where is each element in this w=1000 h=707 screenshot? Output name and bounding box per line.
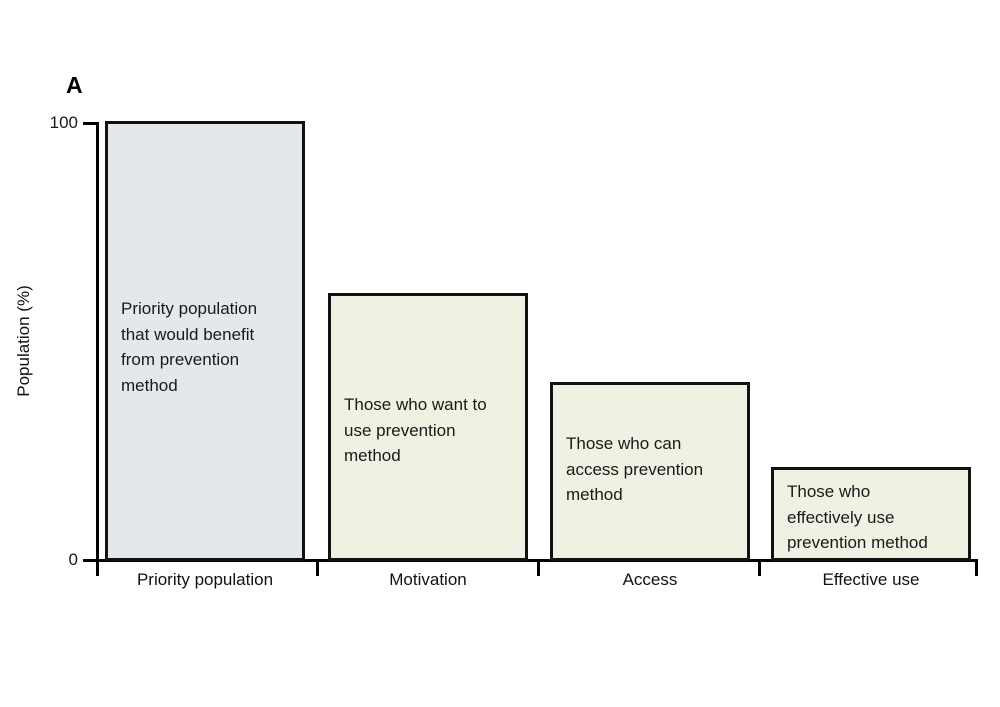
x-tick-mark-4 (975, 562, 978, 576)
y-tick-mark-100 (83, 122, 96, 125)
x-tick-mark-0 (96, 562, 99, 576)
y-tick-label-0: 0 (20, 550, 78, 570)
x-category-label-effective-use: Effective use (771, 570, 971, 590)
y-tick-mark-0 (83, 559, 96, 562)
y-tick-label-100: 100 (20, 113, 78, 133)
bar-motivation: Those who want to use prevention method (328, 293, 528, 561)
x-tick-mark-3 (758, 562, 761, 576)
y-axis-label-container: Population (%) (8, 122, 40, 560)
x-tick-mark-1 (316, 562, 319, 576)
bar-priority-population: Priority population that would benefit f… (105, 121, 305, 561)
bar-access: Those who can access prevention method (550, 382, 750, 561)
bar-annotation-effective-use: Those who effectively use prevention met… (787, 479, 960, 556)
bar-annotation-access: Those who can access prevention method (566, 431, 739, 508)
x-category-label-motivation: Motivation (328, 570, 528, 590)
y-axis-spine (96, 122, 99, 561)
x-category-label-access: Access (550, 570, 750, 590)
prevention-cascade-figure: A Population (%) 100 0 Priority populati… (0, 0, 1000, 707)
panel-letter: A (66, 74, 83, 97)
bar-annotation-priority-population: Priority population that would benefit f… (121, 296, 294, 398)
y-axis-label: Population (%) (14, 285, 34, 397)
bar-annotation-motivation: Those who want to use prevention method (344, 392, 517, 469)
bar-effective-use: Those who effectively use prevention met… (771, 467, 971, 561)
x-tick-mark-2 (537, 562, 540, 576)
x-category-label-priority-population: Priority population (105, 570, 305, 590)
